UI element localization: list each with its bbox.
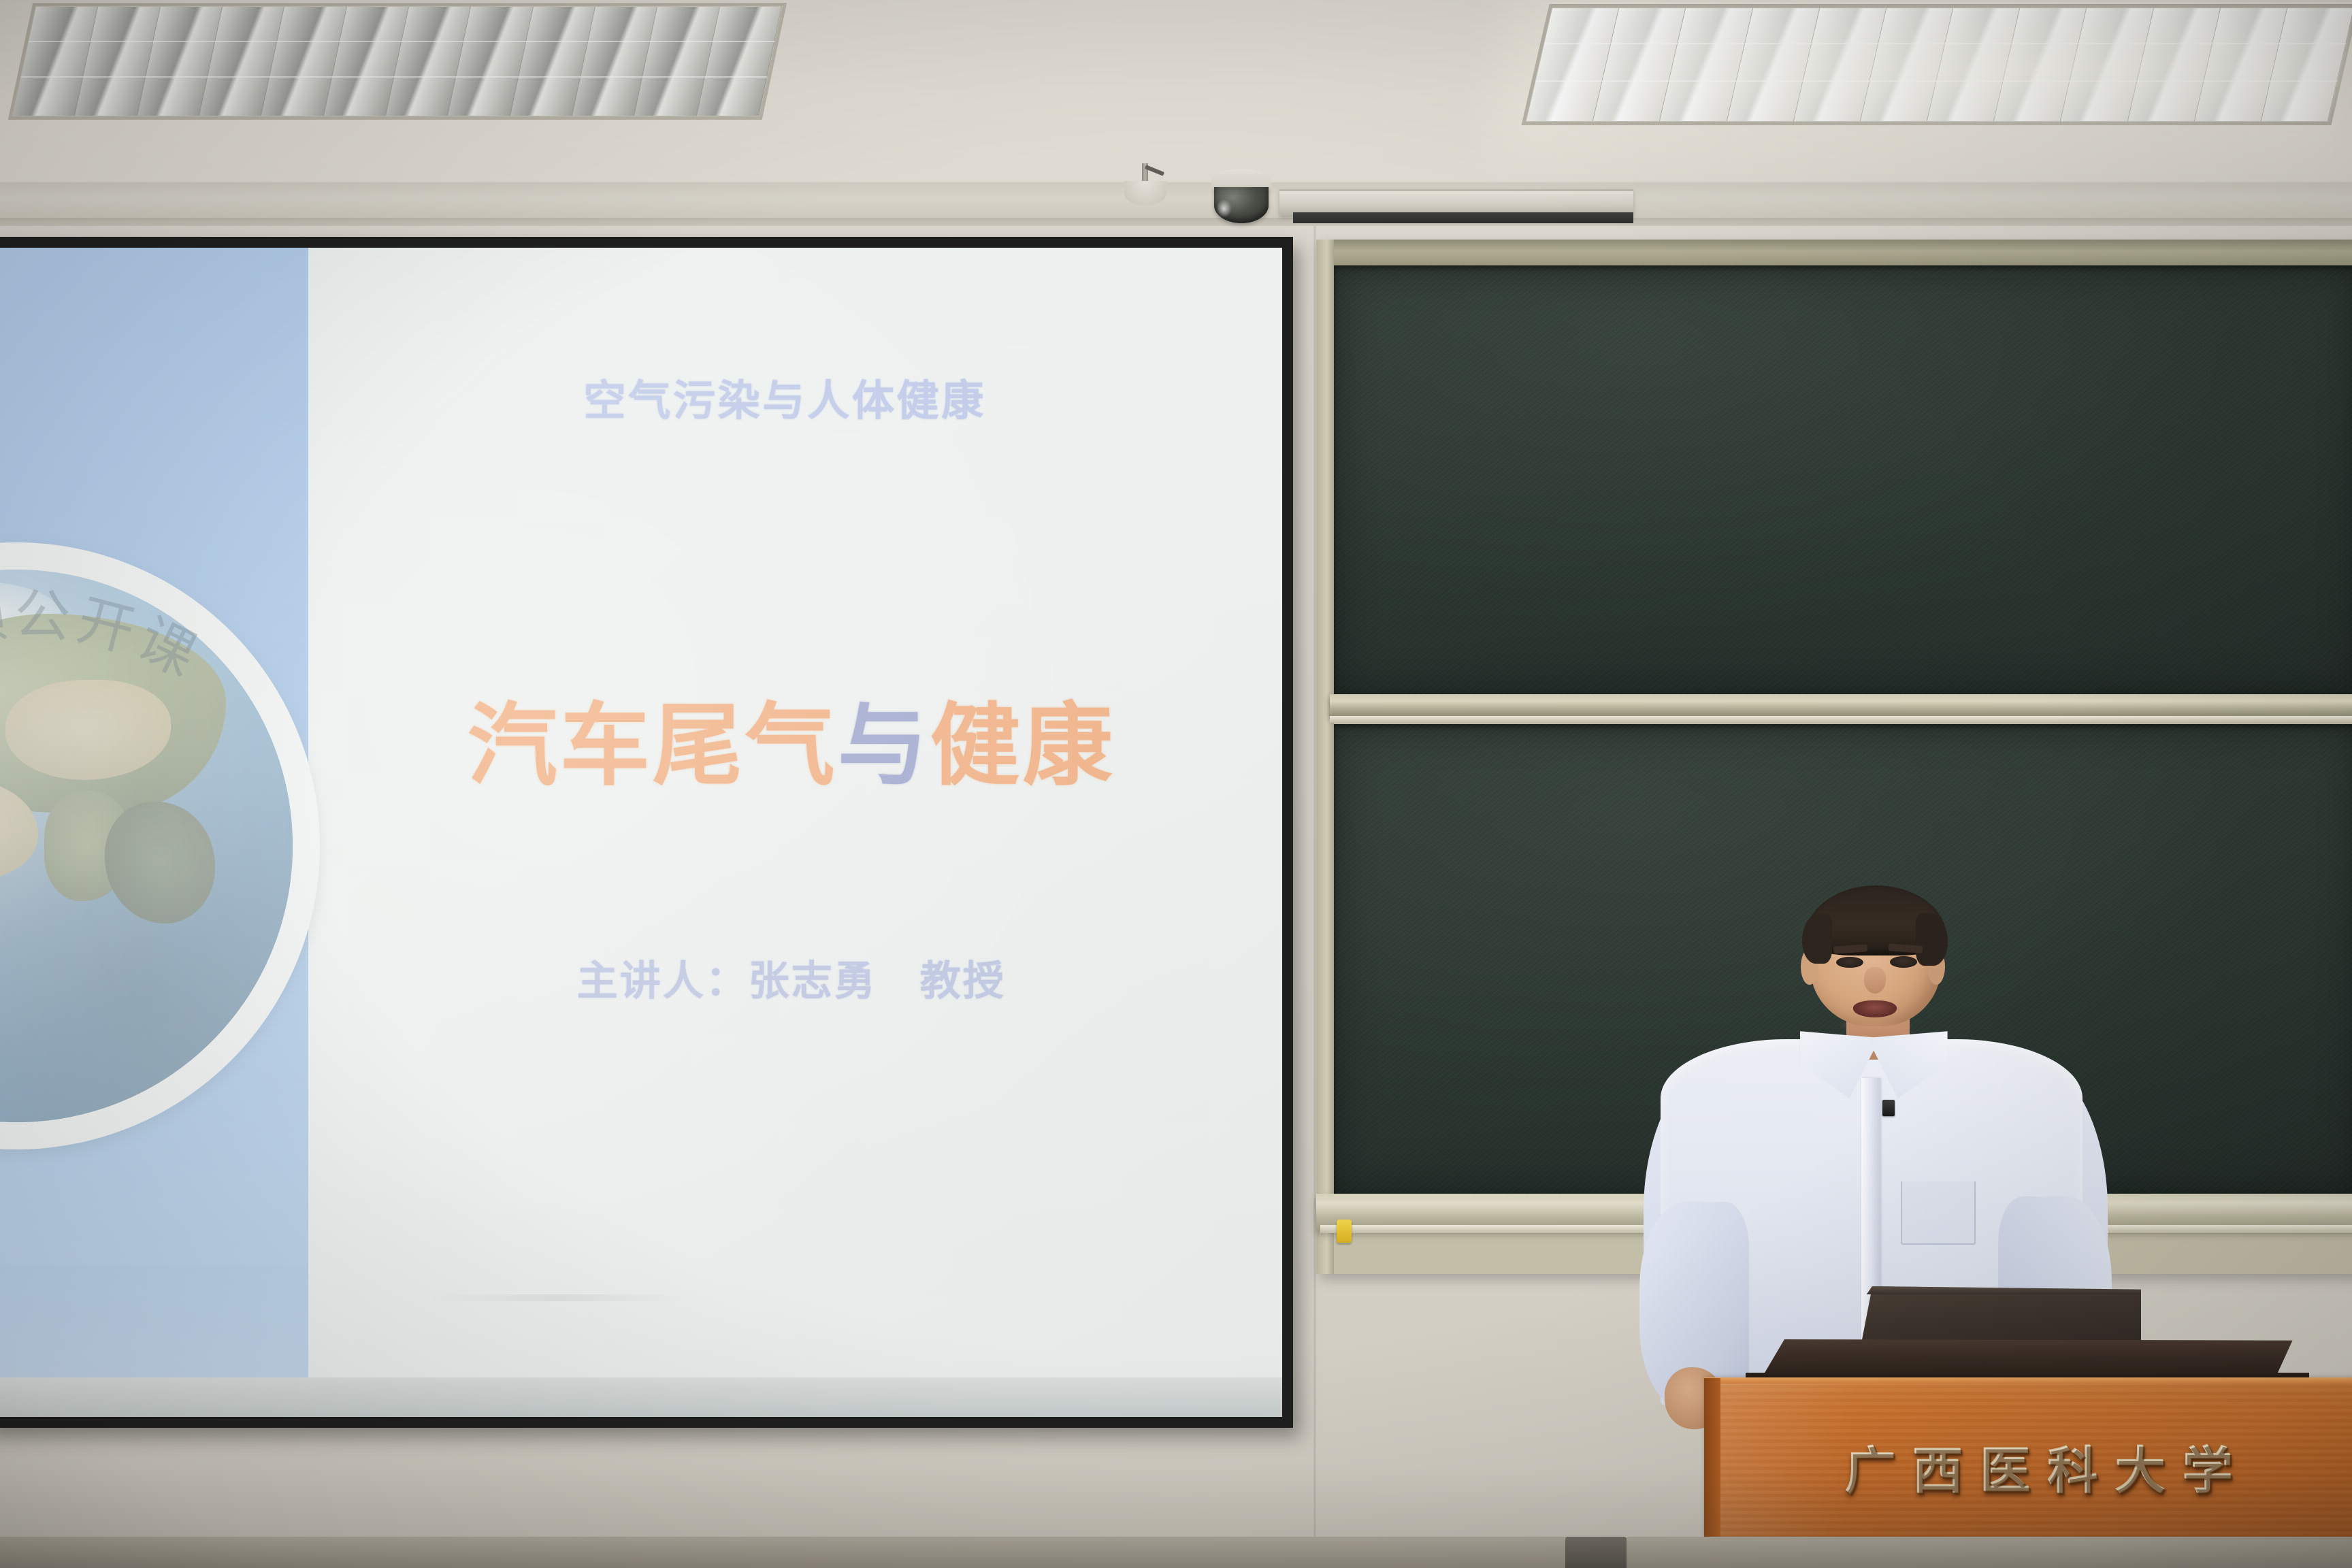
slide-title: 汽车尾气与健康: [301, 673, 1282, 803]
chalkboard-top-cap: [1316, 240, 2352, 265]
laptop-lid-top-edge: [1867, 1286, 2141, 1294]
slide: 医科大学视频公开课 空气污染与人体健康 汽车尾气与健康 主讲人：张志勇 教授: [0, 248, 1282, 1417]
slide-subtitle: 主讲人：张志勇 教授: [301, 948, 1282, 1007]
slide-bottom-band: [0, 1377, 1282, 1417]
projection-screen-surface: 医科大学视频公开课 空气污染与人体健康 汽车尾气与健康 主讲人：张志勇 教授: [0, 248, 1282, 1417]
light-lamp-rows: [13, 7, 782, 116]
slide-title-part-1: 汽车尾气: [468, 696, 838, 796]
chalkboard-frame-left: [1316, 240, 1334, 1274]
chalkboard-middle-rail-lip: [1330, 716, 2352, 723]
slide-footer-mark: [429, 1294, 688, 1301]
screen-roller-shadow: [1293, 212, 1633, 223]
wall-floor-shadow: [0, 1466, 2352, 1568]
presenter-eye-left: [1836, 957, 1863, 968]
lectern-top-surface: [1763, 1339, 2293, 1375]
chalkboard-middle-rail: [1330, 694, 2352, 717]
slide-header: 空气污染与人体健康: [346, 366, 1224, 427]
ceiling-light-left: [8, 3, 787, 120]
presenter-chin: [1837, 1017, 1914, 1034]
slide-title-part-2: 与: [838, 696, 930, 796]
slide-watermark-text: 医科大学视频公开课: [0, 584, 210, 846]
slide-title-part-3: 健康: [930, 696, 1115, 796]
yellow-chalk[interactable]: [1337, 1220, 1352, 1243]
ceiling-light-right: [1521, 4, 2352, 125]
lectern-front-lip: [1704, 1377, 2352, 1384]
lecture-hall-screenshot: 医科大学视频公开课 空气污染与人体健康 汽车尾气与健康 主讲人：张志勇 教授: [0, 0, 2352, 1568]
slide-watermark: 医科大学视频公开课: [0, 542, 320, 1149]
projection-screen[interactable]: 医科大学视频公开课 空气污染与人体健康 汽车尾气与健康 主讲人：张志勇 教授: [0, 237, 1293, 1428]
presenter-shirt-pocket: [1901, 1181, 1975, 1245]
lapel-microphone: [1882, 1100, 1895, 1116]
fire-sprinkler-head: [1124, 163, 1166, 206]
chalkboard-upper-panel[interactable]: [1334, 265, 2352, 694]
presenter-hair-side-left: [1802, 914, 1831, 963]
svg-text:医科大学视频公开课: 医科大学视频公开课: [0, 584, 210, 846]
wall-soffit-lip: [0, 218, 2352, 226]
light-lamp-rows: [1526, 8, 2352, 121]
dome-security-camera: [1211, 169, 1271, 223]
wall-soffit: [0, 182, 2352, 222]
presenter-eye-right: [1890, 956, 1917, 968]
